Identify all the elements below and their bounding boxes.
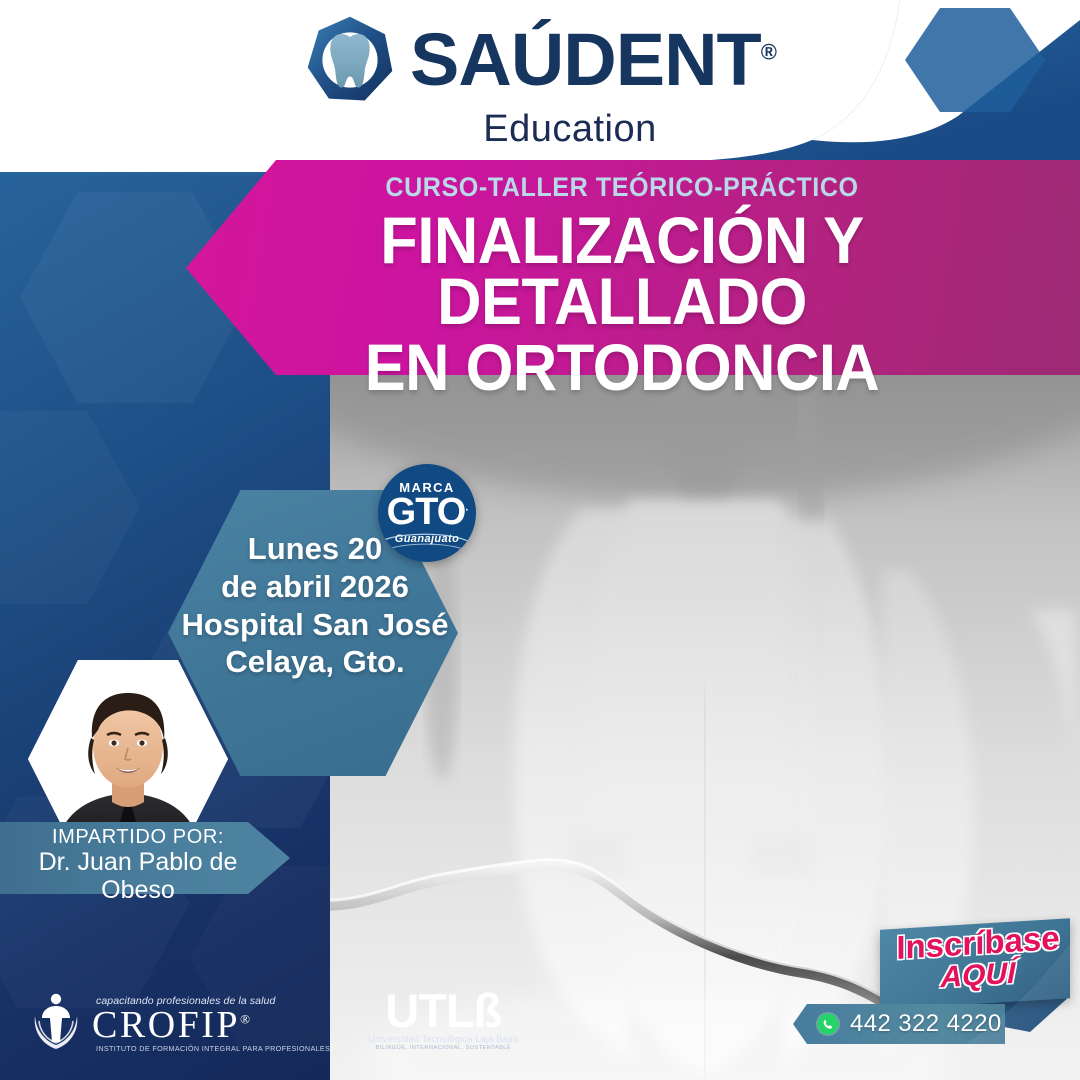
gto-main-label: GTO. [387,494,468,530]
poster-root: SAÚDENT® Education CURSO-TALLER TEÓRICO-… [0,0,1080,1080]
presenter-label: IMPARTIDO POR: [0,826,276,848]
crofip-logo: capacitando profesionales de la salud CR… [28,990,330,1052]
sponsor-logos: capacitando profesionales de la salud CR… [28,990,518,1052]
crofip-name: CROFIP® [92,1008,330,1043]
utlb-tagline: BILINGÜE, INTERNACIONAL, SUSTENTABLE [375,1046,511,1052]
header-band [0,0,1080,175]
gto-swoosh-icon [378,530,476,556]
corner-decoration [780,930,1080,1080]
utlb-subtitle: Universidad Tecnológica Laja Bajío [368,1035,518,1044]
course-title-line2: EN ORTODONCIA [217,337,1028,398]
laurel-figure-icon [28,990,84,1052]
utlb-logo: UTLß Universidad Tecnológica Laja Bajío … [368,990,518,1052]
course-title-line1: FINALIZACIÓN Y DETALLADO [217,210,1028,333]
event-date-month: de abril 2026 [150,568,480,606]
event-city: Celaya, Gto. [150,643,480,681]
presenter-name: Dr. Juan Pablo de Obeso [0,848,276,904]
crofip-footer: INSTITUTO DE FORMACIÓN INTEGRAL PARA PRO… [96,1045,330,1052]
course-kicker: CURSO-TALLER TEÓRICO-PRÁCTICO [217,174,1028,201]
title-banner-text: CURSO-TALLER TEÓRICO-PRÁCTICO FINALIZACI… [186,160,1080,375]
marca-gto-badge: MARCA GTO. Guanajuato [378,464,476,562]
event-venue: Hospital San José [150,606,480,644]
utlb-name: UTLß [385,990,501,1032]
bg-hexagon [0,405,140,610]
presenter-info: IMPARTIDO POR: Dr. Juan Pablo de Obeso [0,826,276,904]
